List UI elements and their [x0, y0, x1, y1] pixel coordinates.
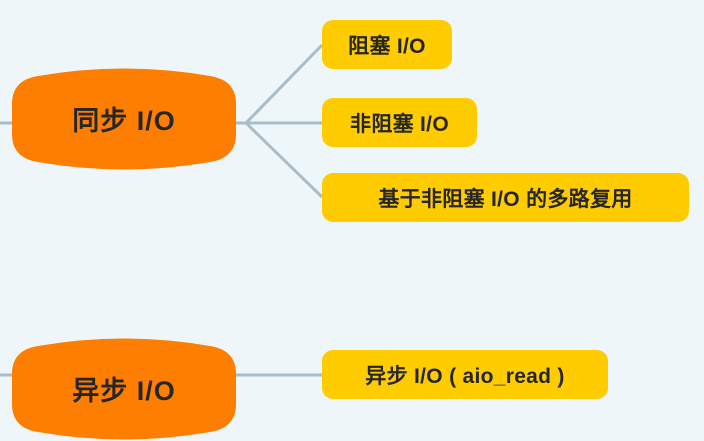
leaf-label-nonblocking: 非阻塞 I/O — [350, 108, 449, 138]
root-node-sync[interactable]: 同步 I/O — [12, 68, 236, 170]
root-node-async[interactable]: 异步 I/O — [12, 338, 236, 440]
root-label-async: 异步 I/O — [72, 369, 176, 410]
leaf-label-blocking: 阻塞 I/O — [348, 30, 426, 60]
leaf-node-nonblocking[interactable]: 非阻塞 I/O — [322, 98, 477, 147]
edge-sync-to-multiplexing — [246, 123, 322, 197]
edge-sync-to-blocking — [246, 45, 322, 123]
mindmap-canvas: 同步 I/O 阻塞 I/O 非阻塞 I/O 基于非阻塞 I/O 的多路复用 异步… — [0, 0, 704, 441]
root-label-sync: 同步 I/O — [72, 99, 176, 140]
leaf-node-aio[interactable]: 异步 I/O ( aio_read ) — [322, 350, 608, 399]
leaf-label-multiplexing: 基于非阻塞 I/O 的多路复用 — [378, 183, 632, 213]
leaf-label-aio: 异步 I/O ( aio_read ) — [365, 360, 564, 390]
leaf-node-multiplexing[interactable]: 基于非阻塞 I/O 的多路复用 — [322, 173, 689, 222]
leaf-node-blocking[interactable]: 阻塞 I/O — [322, 20, 452, 69]
